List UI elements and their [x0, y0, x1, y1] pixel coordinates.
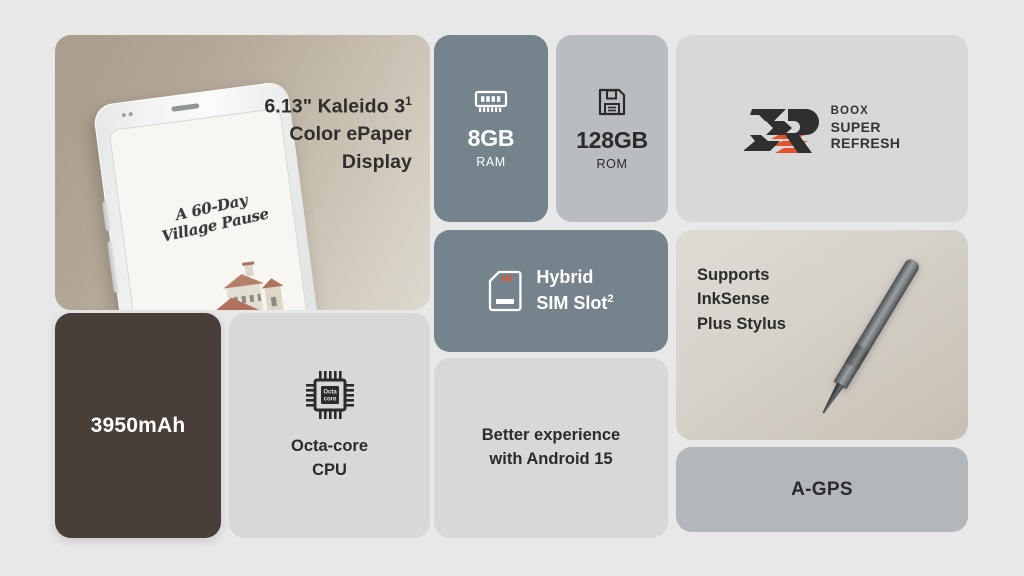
sim-slot-line1: Hybrid [536, 267, 593, 287]
display-spec-line1: 6.13" Kaleido 3 [264, 96, 405, 118]
battery-capacity-value: 3950mAh [91, 414, 186, 438]
boox-logo-word2: SUPER [831, 119, 901, 136]
cpu-icon-text-line2: core [323, 397, 336, 403]
boox-logo-word1: BOOX [831, 105, 901, 119]
front-camera-dots-icon [122, 112, 135, 118]
cpu-label-line2: CPU [312, 461, 347, 479]
sim-card-icon [488, 270, 522, 312]
sim-slot-label: Hybrid SIM Slot2 [536, 265, 613, 316]
rom-value: 128GB [576, 127, 648, 154]
card-agps-spec: A-GPS [676, 447, 968, 532]
memory-module-icon [474, 89, 508, 115]
ram-sublabel: RAM [476, 155, 506, 169]
card-display-spec: A 60-Day Village Pause [55, 35, 430, 310]
card-sim-slot-spec: Hybrid SIM Slot2 [434, 230, 668, 352]
card-battery-spec: 3950mAh [55, 313, 221, 538]
sim-slot-line2: SIM Slot [536, 293, 607, 313]
cpu-chip-icon: Octa core [304, 369, 356, 421]
card-boox-super-refresh: BOOX SUPER REFRESH [676, 35, 968, 222]
cpu-label: Octa-core CPU [291, 435, 368, 482]
android-label-line1: Better experience [482, 426, 621, 444]
stylus-label-line3: Plus Stylus [697, 315, 786, 333]
display-spec-line2: Color ePaper [289, 123, 412, 145]
boox-3r-logo-icon [744, 101, 822, 157]
stylus-label-line1: Supports [697, 266, 769, 284]
boox-logo-wordmark: BOOX SUPER REFRESH [831, 105, 901, 152]
inksense-plus-stylus-pen [813, 255, 925, 421]
stylus-label: Supports InkSense Plus Stylus [697, 263, 786, 336]
boox-logo-word3: REFRESH [831, 135, 901, 152]
stylus-label-line2: InkSense [697, 290, 769, 308]
spec-sheet-canvas: A 60-Day Village Pause [0, 0, 1024, 576]
cpu-icon-text-line1: Octa [323, 389, 337, 395]
floppy-disk-icon [597, 87, 627, 117]
display-spec-footnote: 1 [405, 94, 412, 108]
android-label-line2: with Android 15 [489, 450, 612, 468]
display-spec-text: 6.13" Kaleido 31 Color ePaper Display [222, 93, 412, 177]
speaker-grille-icon [171, 103, 199, 112]
android-label: Better experience with Android 15 [482, 424, 621, 472]
cpu-label-line1: Octa-core [291, 437, 368, 455]
boox-logo-lockup: BOOX SUPER REFRESH [744, 101, 901, 157]
rom-sublabel: ROM [597, 157, 628, 171]
card-stylus-spec: Supports InkSense Plus Stylus [676, 230, 968, 440]
stylus-tip [820, 382, 844, 415]
agps-label: A-GPS [791, 479, 853, 501]
ram-value: 8GB [468, 125, 515, 152]
sim-slot-footnote: 2 [607, 293, 613, 305]
card-ram-spec: 8GB RAM [434, 35, 548, 222]
card-cpu-spec: Octa core Octa-core CPU [229, 313, 430, 538]
display-spec-line3: Display [342, 151, 412, 173]
stylus-barrel [833, 257, 921, 390]
card-rom-spec: 128GB ROM [556, 35, 668, 222]
card-android-spec: Better experience with Android 15 [434, 358, 668, 538]
